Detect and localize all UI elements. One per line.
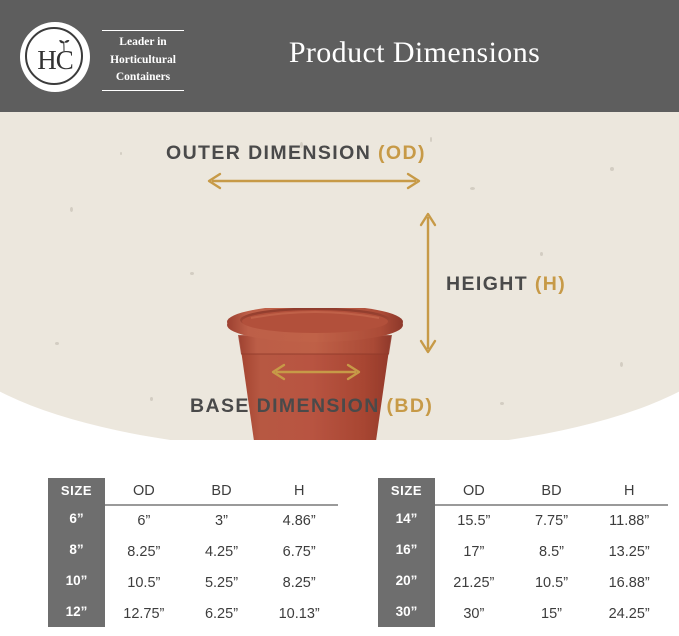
cell-od: 12.75” <box>105 599 183 630</box>
texture-speck <box>190 272 194 275</box>
cell-bd: 8.5” <box>513 537 591 568</box>
cell-h: 24.25” <box>590 599 668 630</box>
table-row: 8.25” 4.25” 6.75” <box>105 537 338 568</box>
cell-bd: 5.25” <box>183 568 261 599</box>
tagline-line-3: Containers <box>100 69 186 87</box>
cell-h: 4.86” <box>260 506 338 537</box>
cell-h: 8.25” <box>260 568 338 599</box>
size-column-small: SIZE 6” 8” 10” 12” <box>48 478 105 627</box>
column-header-h: H <box>260 478 338 503</box>
base-dimension-code: (BD) <box>387 395 434 417</box>
texture-speck <box>540 252 543 256</box>
cell-h: 16.88” <box>590 568 668 599</box>
column-header-bd: BD <box>513 478 591 503</box>
data-columns-small: OD BD H 6” 3” 4.86” 8.25” 4.25” 6.75” 10… <box>105 478 338 630</box>
table-row: 17” 8.5” 13.25” <box>435 537 668 568</box>
cell-od: 15.5” <box>435 506 513 537</box>
cell-bd: 3” <box>183 506 261 537</box>
cell-h: 6.75” <box>260 537 338 568</box>
page-header: HC Leader in Horticultural Containers Pr… <box>0 0 679 112</box>
texture-speck <box>430 137 432 142</box>
table-header-row: OD BD H <box>435 478 668 503</box>
column-header-h: H <box>590 478 668 503</box>
size-column-body: 14” 16” 20” 30” <box>378 503 435 627</box>
cell-od: 10.5” <box>105 568 183 599</box>
cell-h: 11.88” <box>590 506 668 537</box>
table-row: 21.25” 10.5” 16.88” <box>435 568 668 599</box>
outer-dimension-code: (OD) <box>378 142 426 164</box>
tagline-rule-top <box>102 30 184 31</box>
texture-speck <box>470 187 475 190</box>
cell-od: 21.25” <box>435 568 513 599</box>
table-header-row: OD BD H <box>105 478 338 503</box>
texture-speck <box>120 152 122 155</box>
texture-speck <box>610 167 614 171</box>
size-column-large: SIZE 14” 16” 20” 30” <box>378 478 435 627</box>
texture-speck <box>55 342 59 345</box>
cell-h: 10.13” <box>260 599 338 630</box>
size-column-body: 6” 8” 10” 12” <box>48 503 105 627</box>
outer-dimension-label: OUTER DIMENSION (OD) <box>166 142 426 165</box>
size-cell: 16” <box>378 534 435 565</box>
cell-od: 17” <box>435 537 513 568</box>
size-cell: 30” <box>378 596 435 627</box>
table-row: 12.75” 6.25” 10.13” <box>105 599 338 630</box>
cell-bd: 15” <box>513 599 591 630</box>
column-header-od: OD <box>105 478 183 503</box>
base-dimension-arrow-icon <box>268 363 364 381</box>
cell-h: 13.25” <box>590 537 668 568</box>
outer-dimension-text: OUTER DIMENSION <box>166 142 378 164</box>
table-row: 6” 3” 4.86” <box>105 506 338 537</box>
table-row: 30” 15” 24.25” <box>435 599 668 630</box>
column-header-od: OD <box>435 478 513 503</box>
height-text: HEIGHT <box>446 273 535 295</box>
texture-speck <box>70 207 73 212</box>
data-columns-large: OD BD H 15.5” 7.75” 11.88” 17” 8.5” 13.2… <box>435 478 668 630</box>
size-cell: 10” <box>48 565 105 596</box>
cell-od: 8.25” <box>105 537 183 568</box>
size-cell: 20” <box>378 565 435 596</box>
table-row: 15.5” 7.75” 11.88” <box>435 506 668 537</box>
column-header-bd: BD <box>183 478 261 503</box>
size-cell: 6” <box>48 503 105 534</box>
dimension-tables: SIZE 6” 8” 10” 12” OD BD H 6” 3” <box>0 440 679 636</box>
cell-bd: 4.25” <box>183 537 261 568</box>
cell-bd: 6.25” <box>183 599 261 630</box>
diagram-panel: OUTER DIMENSION (OD) <box>0 112 679 440</box>
cell-od: 6” <box>105 506 183 537</box>
height-arrow-icon <box>419 210 437 356</box>
page-title: Product Dimensions <box>0 36 679 70</box>
height-label: HEIGHT (H) <box>446 273 566 296</box>
texture-speck <box>620 362 623 367</box>
height-code: (H) <box>535 273 566 295</box>
size-cell: 14” <box>378 503 435 534</box>
size-cell: 8” <box>48 534 105 565</box>
size-header: SIZE <box>378 478 435 503</box>
outer-dimension-arrow-icon <box>204 172 424 190</box>
cell-bd: 7.75” <box>513 506 591 537</box>
texture-speck <box>150 397 153 401</box>
texture-speck <box>500 402 504 405</box>
product-dimensions-page: HC Leader in Horticultural Containers Pr… <box>0 0 679 636</box>
size-cell: 12” <box>48 596 105 627</box>
cell-od: 30” <box>435 599 513 630</box>
base-dimension-text: BASE DIMENSION <box>190 395 387 417</box>
base-dimension-label: BASE DIMENSION (BD) <box>190 395 433 418</box>
size-header: SIZE <box>48 478 105 503</box>
tagline-rule-bottom <box>102 90 184 91</box>
cell-bd: 10.5” <box>513 568 591 599</box>
table-row: 10.5” 5.25” 8.25” <box>105 568 338 599</box>
